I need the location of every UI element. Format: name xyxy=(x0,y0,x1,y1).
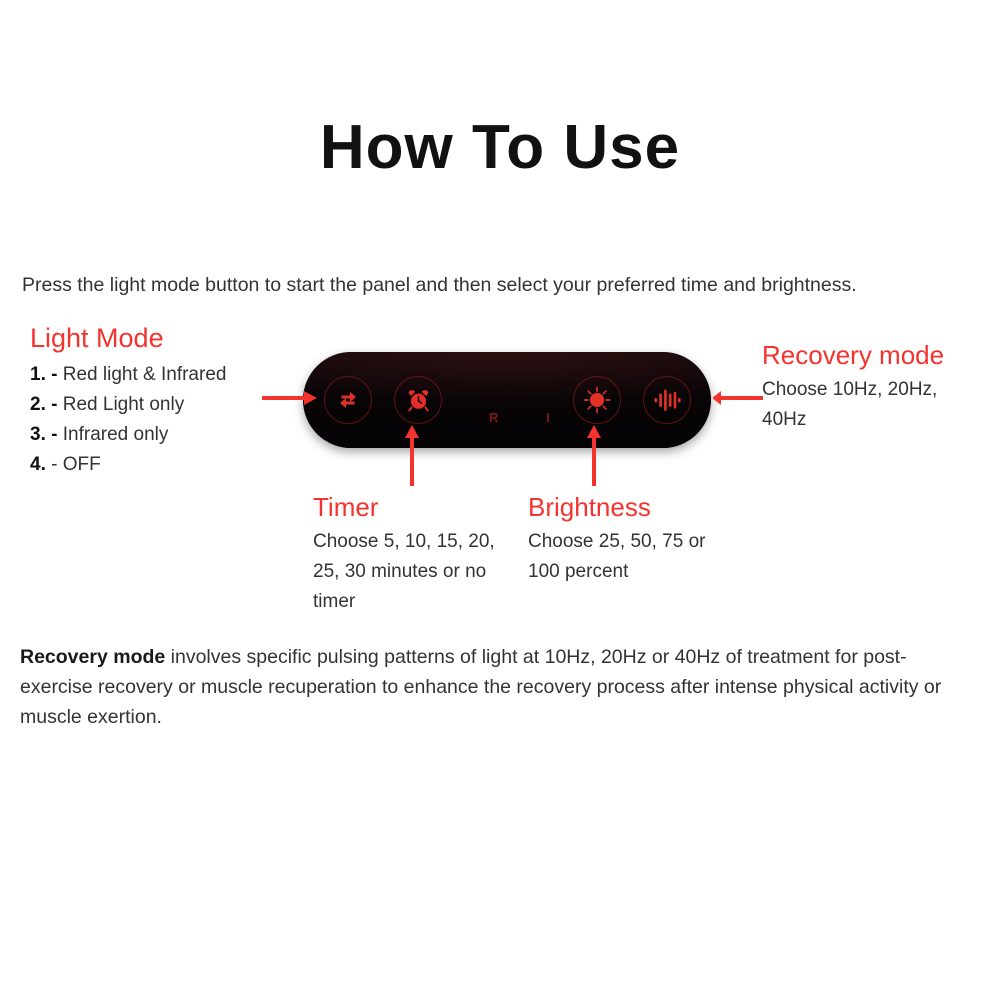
light-mode-callout: Light Mode 1. - Red light & Infrared 2. … xyxy=(30,322,280,480)
light-mode-button[interactable] xyxy=(324,376,372,424)
page-title: How To Use xyxy=(0,112,1000,183)
recovery-mode-description-lead: Recovery mode xyxy=(20,646,165,668)
brightness-callout: Brightness Choose 25, 50, 75 or 100 perc… xyxy=(528,492,738,587)
brightness-button[interactable] xyxy=(573,376,621,424)
list-item-dash: - xyxy=(51,364,57,385)
timer-heading: Timer xyxy=(313,492,523,523)
list-item: 3. - Infrared only xyxy=(30,420,280,450)
list-item-number: 2. xyxy=(30,394,46,415)
recovery-mode-heading: Recovery mode xyxy=(762,340,952,371)
list-item-label: Infrared only xyxy=(63,424,169,445)
list-item-dash: - xyxy=(51,394,57,415)
recovery-mode-description: Recovery mode involves specific pulsing … xyxy=(20,642,978,732)
list-item-number: 4. xyxy=(30,454,46,475)
brightness-body: Choose 25, 50, 75 or 100 percent xyxy=(528,527,738,587)
intro-text: Press the light mode button to start the… xyxy=(22,272,982,298)
timer-button[interactable] xyxy=(394,376,442,424)
alarm-clock-icon xyxy=(405,387,432,414)
waveform-icon xyxy=(653,387,681,413)
recovery-button[interactable] xyxy=(643,376,691,424)
brightness-heading: Brightness xyxy=(528,492,738,523)
arrow-to-timer-button xyxy=(404,424,420,491)
recovery-mode-callout: Recovery mode Choose 10Hz, 20Hz, 40Hz xyxy=(762,340,952,435)
timer-body: Choose 5, 10, 15, 20, 25, 30 minutes or … xyxy=(313,527,523,617)
list-item-number: 1. xyxy=(30,364,46,385)
cycle-arrows-icon xyxy=(335,387,361,413)
arrow-to-light-mode-button xyxy=(262,390,318,411)
recovery-mode-body: Choose 10Hz, 20Hz, 40Hz xyxy=(762,375,952,435)
list-item-label: Red Light only xyxy=(63,394,184,415)
how-to-use-page: How To Use Press the light mode button t… xyxy=(0,0,1000,1000)
list-item-dash: - xyxy=(51,424,57,445)
indicator-letter-r: R xyxy=(489,410,498,425)
list-item: 1. - Red light & Infrared xyxy=(30,360,280,390)
list-item-dash: - xyxy=(51,454,57,475)
list-item: 4. - OFF xyxy=(30,450,280,480)
light-mode-list: 1. - Red light & Infrared 2. - Red Light… xyxy=(30,360,280,480)
list-item-label: Red light & Infrared xyxy=(63,364,227,385)
light-mode-heading: Light Mode xyxy=(30,322,280,354)
arrow-to-brightness-button xyxy=(586,424,602,491)
list-item: 2. - Red Light only xyxy=(30,390,280,420)
indicator-letter-i: I xyxy=(546,410,550,425)
arrow-to-recovery-button xyxy=(713,390,763,411)
timer-callout: Timer Choose 5, 10, 15, 20, 25, 30 minut… xyxy=(313,492,523,617)
device-control-panel: R I xyxy=(303,352,711,448)
list-item-label: OFF xyxy=(63,454,101,475)
sun-icon xyxy=(583,386,611,414)
list-item-number: 3. xyxy=(30,424,46,445)
